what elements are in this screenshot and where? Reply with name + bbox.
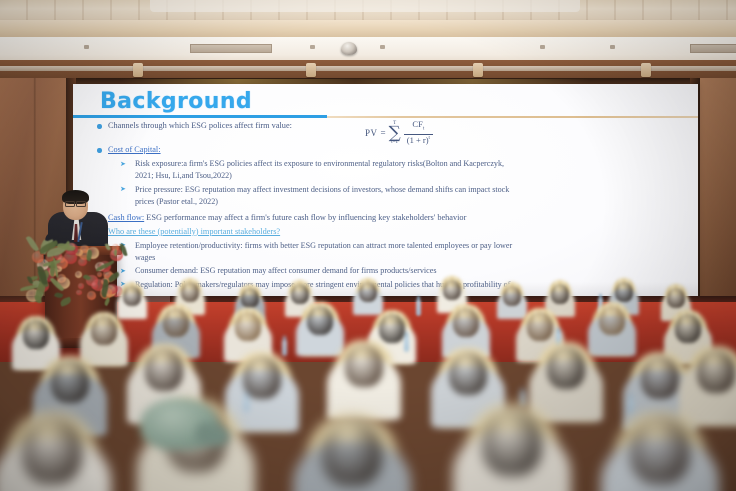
conference-photo: Background PV = T ∑ t=1 CFt (1 + r)t (0, 0, 736, 491)
audience-head (630, 416, 690, 484)
audience-head (322, 418, 382, 486)
audience-row (0, 0, 736, 491)
audience-head (22, 416, 82, 484)
audience-head (482, 408, 542, 476)
